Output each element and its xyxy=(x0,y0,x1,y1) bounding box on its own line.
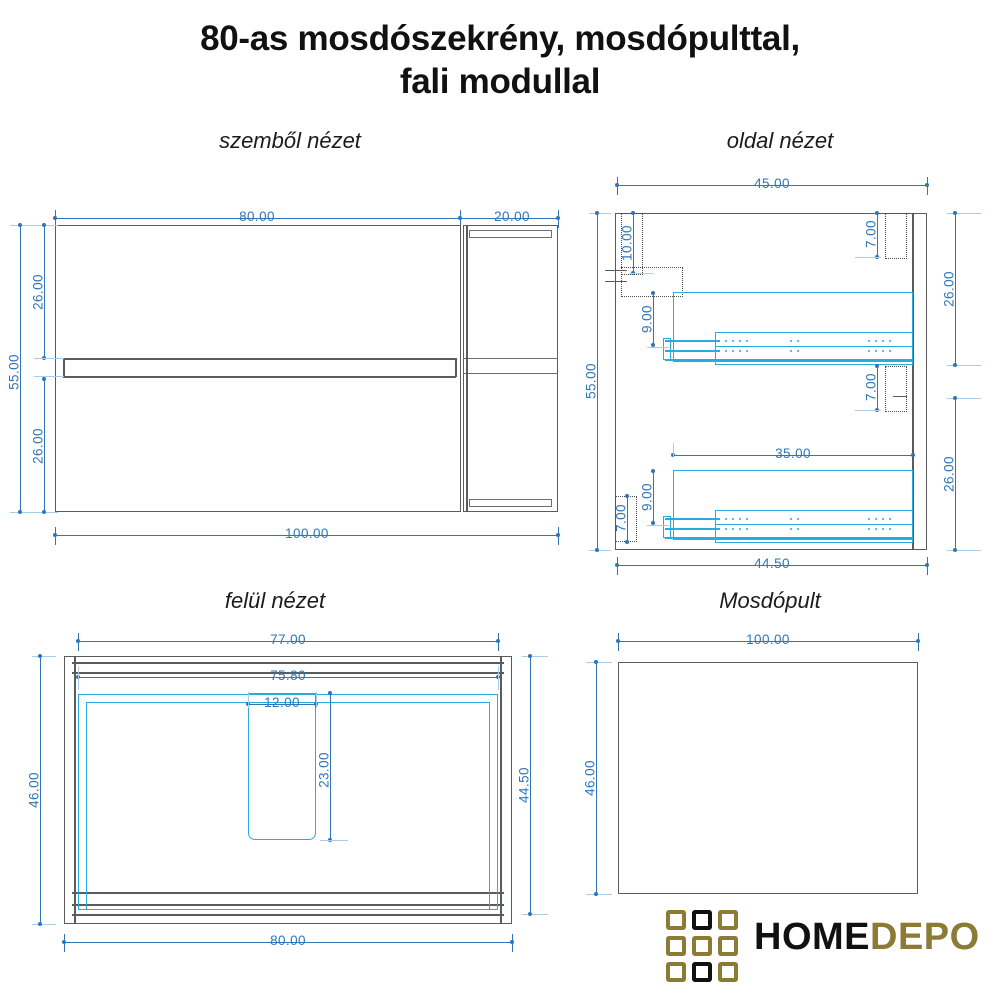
dim-dot xyxy=(953,548,957,552)
dim-counter-width: 100.00 xyxy=(746,632,790,647)
dim-dot xyxy=(594,660,598,664)
page-title: 80-as mosdószekrény, mosdópulttal, fali … xyxy=(0,18,1000,103)
dim-dot xyxy=(625,494,629,498)
drawing-sheet: 80-as mosdószekrény, mosdópulttal, fali … xyxy=(0,0,1000,1000)
dim-ext xyxy=(320,840,348,841)
dim-ext xyxy=(34,376,64,377)
dim-dot xyxy=(953,396,957,400)
dim-dot xyxy=(38,654,42,658)
dim-dot xyxy=(528,912,532,916)
dim-dot xyxy=(528,654,532,658)
side-bracket-lip-right xyxy=(893,396,907,397)
dim-dot xyxy=(631,211,635,215)
dim-side-lower-section: 26.00 xyxy=(942,456,957,492)
dim-ext xyxy=(316,692,317,708)
side-view-drawing: 45.00 10.00 7.00 xyxy=(585,160,1000,580)
dim-dot xyxy=(18,223,22,227)
dim-dot xyxy=(556,533,560,537)
logo-cell-1-0 xyxy=(666,936,686,956)
view-label-top: felül nézet xyxy=(110,588,440,614)
front-drawer-gap-bottom xyxy=(63,376,456,378)
front-view-drawing: 80.00 20.00 55.00 26.00 26. xyxy=(0,190,590,565)
logo-cell-2-2 xyxy=(718,962,738,982)
dim-dot xyxy=(916,639,920,643)
dim-top-total-depth: 46.00 xyxy=(27,772,42,808)
front-module-lower-shelf xyxy=(469,499,552,507)
logo-grid-icon xyxy=(666,910,744,986)
side-drawer-slide-lower-rail2 xyxy=(665,528,720,530)
dim-front-module-width: 20.00 xyxy=(494,209,530,224)
front-module-left-post xyxy=(466,225,468,512)
view-label-front: szemből nézet xyxy=(120,128,460,154)
top-back-rail-3 xyxy=(72,914,504,916)
side-drawer-front-lower xyxy=(663,516,671,538)
dim-side-depth-top: 45.00 xyxy=(754,176,790,191)
dim-side-bracket-top: 10.00 xyxy=(620,225,635,261)
dim-dot xyxy=(53,533,57,537)
front-drawer-gap-left-cap xyxy=(63,358,65,377)
view-label-counter: Mosdópult xyxy=(620,588,920,614)
dim-side-bracket-right-upper: 7.00 xyxy=(864,220,879,248)
dim-dot xyxy=(615,563,619,567)
side-drawer-slide-upper-rail3 xyxy=(665,359,913,361)
side-bracket-lip-upper-2 xyxy=(605,281,627,282)
dim-dot xyxy=(911,453,915,457)
dim-front-cabinet-width: 80.00 xyxy=(239,209,275,224)
dim-ext xyxy=(34,358,64,359)
dim-ext xyxy=(647,525,669,526)
dim-dot xyxy=(42,223,46,227)
dim-side-total-height: 55.00 xyxy=(584,363,599,399)
logo-cell-2-1 xyxy=(692,962,712,982)
view-label-side: oldal nézet xyxy=(630,128,930,154)
title-line-2: fali modullal xyxy=(0,61,1000,104)
dim-ext xyxy=(248,692,249,708)
dim-front-total-height: 55.00 xyxy=(7,354,22,390)
dim-dot xyxy=(595,548,599,552)
side-drawer-slide-upper-rail2 xyxy=(665,350,720,352)
title-line-1: 80-as mosdószekrény, mosdópulttal, xyxy=(0,18,1000,61)
dim-dot xyxy=(42,510,46,514)
dim-ext xyxy=(629,273,653,274)
dim-dot xyxy=(18,510,22,514)
dim-ext xyxy=(498,666,499,690)
dim-ext xyxy=(522,656,548,657)
dim-dot xyxy=(496,639,500,643)
dim-dot xyxy=(595,211,599,215)
top-right-post xyxy=(500,656,502,924)
dim-side-drawer-height-lower: 9.00 xyxy=(640,483,655,511)
side-drawer-slide-lower-rail1 xyxy=(665,518,720,520)
dim-side-bracket-right-lower: 7.00 xyxy=(864,373,879,401)
logo-text-home: HOME xyxy=(754,916,870,958)
dim-dot xyxy=(651,291,655,295)
dim-dot xyxy=(925,563,929,567)
dim-side-drawer-height-upper: 9.00 xyxy=(640,305,655,333)
side-drawer-slide-upper-rail1 xyxy=(665,340,720,342)
top-view-drawing: 77.00 75.80 12.00 23.00 xyxy=(0,620,570,940)
dim-side-drawer-depth: 35.00 xyxy=(775,446,811,461)
dim-top-inner-depth: 44.50 xyxy=(517,767,532,803)
dim-ext xyxy=(855,257,881,258)
dim-top-cutout-width: 12.00 xyxy=(264,695,300,710)
top-sink-cutout xyxy=(248,693,316,840)
front-module-upper-shelf xyxy=(469,230,552,238)
top-front-rail-1 xyxy=(72,662,504,664)
dim-side-upper-section: 26.00 xyxy=(942,271,957,307)
dim-top-drawer-width: 75.80 xyxy=(270,668,306,683)
dim-dot xyxy=(616,639,620,643)
dim-top-total-width: 80.00 xyxy=(270,933,306,948)
top-left-post xyxy=(74,656,76,924)
side-wall-bracket-right-upper xyxy=(885,213,907,259)
dim-dot xyxy=(953,211,957,215)
dim-dot xyxy=(953,363,957,367)
dim-dot xyxy=(42,377,46,381)
side-bracket-lip-upper xyxy=(605,270,627,271)
homedepo-logo[interactable]: HOMEDEPO xyxy=(660,906,990,990)
dim-front-total-width: 100.00 xyxy=(285,526,329,541)
dim-top-inner-width: 77.00 xyxy=(270,632,306,647)
dim-ext xyxy=(673,443,674,457)
dim-dot xyxy=(38,922,42,926)
dim-dot xyxy=(875,364,879,368)
dim-ext xyxy=(522,914,548,915)
dim-ext xyxy=(589,550,611,551)
dim-dot xyxy=(594,892,598,896)
front-drawer-gap-right-cap xyxy=(455,358,457,377)
dim-dot xyxy=(328,691,332,695)
counter-slab xyxy=(618,662,918,894)
dim-dot xyxy=(510,940,514,944)
logo-cell-1-1 xyxy=(692,936,712,956)
dim-ext xyxy=(586,894,612,895)
dim-front-lower-drawer: 26.00 xyxy=(31,428,46,464)
front-cabinet-body xyxy=(55,225,461,512)
counter-view-drawing: 100.00 46.00 xyxy=(560,620,990,920)
logo-cell-2-0 xyxy=(666,962,686,982)
logo-cell-0-1 xyxy=(692,910,712,930)
dim-dot xyxy=(625,540,629,544)
side-drawer-slide-lower-mid xyxy=(715,524,913,525)
logo-cell-0-2 xyxy=(718,910,738,930)
dim-dot xyxy=(556,216,560,220)
dim-ext xyxy=(32,924,56,925)
dim-ext xyxy=(586,662,612,663)
dim-side-bracket-left-lower: 7.00 xyxy=(614,504,629,532)
logo-wordmark: HOMEDEPO xyxy=(754,918,980,956)
dim-dot xyxy=(615,183,619,187)
front-wall-module xyxy=(463,225,558,512)
dim-dot xyxy=(62,940,66,944)
dim-top-cutout-depth: 23.00 xyxy=(317,752,332,788)
dim-ext xyxy=(78,666,79,690)
front-drawer-gap-top xyxy=(63,358,456,360)
dim-front-upper-drawer: 26.00 xyxy=(31,274,46,310)
dim-dot xyxy=(53,216,57,220)
front-module-divider-top xyxy=(463,358,558,359)
dim-side-depth-bottom: 44.50 xyxy=(754,556,790,571)
dim-dot xyxy=(925,183,929,187)
side-wall-bracket-right-lower xyxy=(885,366,907,412)
side-drawer-slide-upper-mid xyxy=(715,346,913,347)
logo-cell-0-0 xyxy=(666,910,686,930)
dim-dot xyxy=(875,211,879,215)
front-module-divider-bottom xyxy=(463,373,558,374)
side-drawer-slide-lower-rail3 xyxy=(665,537,913,539)
dim-ext xyxy=(589,213,611,214)
dim-dot xyxy=(76,639,80,643)
dim-ext xyxy=(647,347,669,348)
dim-counter-depth: 46.00 xyxy=(583,760,598,796)
logo-text-depo: DEPO xyxy=(870,916,980,958)
logo-cell-1-2 xyxy=(718,936,738,956)
side-drawer-front-upper xyxy=(663,338,671,360)
dim-ext xyxy=(855,410,881,411)
dim-ext xyxy=(32,656,56,657)
dim-dot xyxy=(651,469,655,473)
